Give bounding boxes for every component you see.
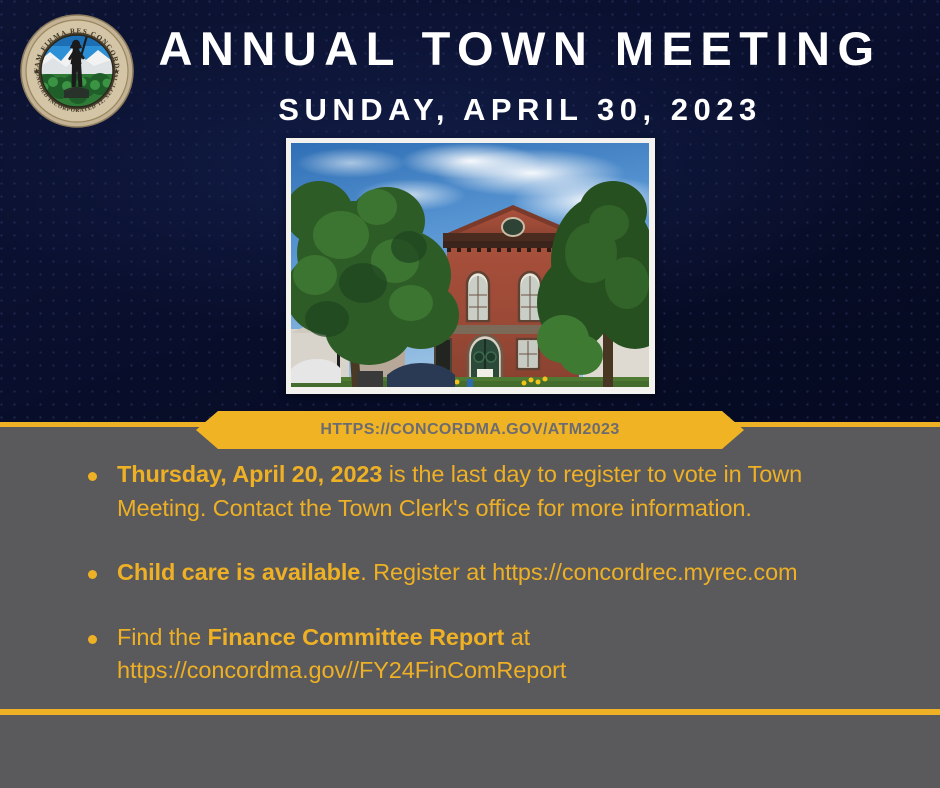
svg-text:★: ★ bbox=[113, 67, 120, 76]
bullet-text-3: Find the Finance Committee Report at htt… bbox=[117, 621, 878, 688]
poster-title: ANNUAL TOWN MEETING bbox=[120, 24, 920, 73]
bullet-dot-icon bbox=[88, 570, 97, 579]
svg-text:★: ★ bbox=[33, 67, 40, 76]
bullet-dot-icon bbox=[88, 472, 97, 481]
bullet-3-prefix: Find the bbox=[117, 624, 208, 650]
bullet-2-rest[interactable]: . Register at https://concordrec.myrec.c… bbox=[360, 559, 797, 585]
url-ribbon-banner[interactable] bbox=[196, 411, 744, 449]
list-item: Find the Finance Committee Report at htt… bbox=[88, 621, 878, 688]
bullet-text-2: Child care is available. Register at htt… bbox=[117, 556, 878, 590]
town-seal-icon: QVAM FIRMA RES CONCORDIA CONCORD INCORPO… bbox=[20, 14, 134, 128]
concord-town-house-photo bbox=[291, 143, 649, 387]
bullet-3-bold: Finance Committee Report bbox=[208, 624, 505, 650]
list-item: Thursday, April 20, 2023 is the last day… bbox=[88, 458, 878, 525]
bullet-2-bold: Child care is available bbox=[117, 559, 360, 585]
list-item: Child care is available. Register at htt… bbox=[88, 556, 878, 590]
bullet-dot-icon bbox=[88, 635, 97, 644]
bullet-text-1: Thursday, April 20, 2023 is the last day… bbox=[117, 458, 878, 525]
poster-subtitle: SUNDAY, APRIL 30, 2023 bbox=[120, 94, 920, 127]
photo-frame bbox=[286, 138, 655, 394]
annual-town-meeting-poster: QVAM FIRMA RES CONCORDIA CONCORD INCORPO… bbox=[0, 0, 940, 788]
bullet-1-bold: Thursday, April 20, 2023 bbox=[117, 461, 382, 487]
bullet-list: Thursday, April 20, 2023 is the last day… bbox=[88, 458, 878, 719]
